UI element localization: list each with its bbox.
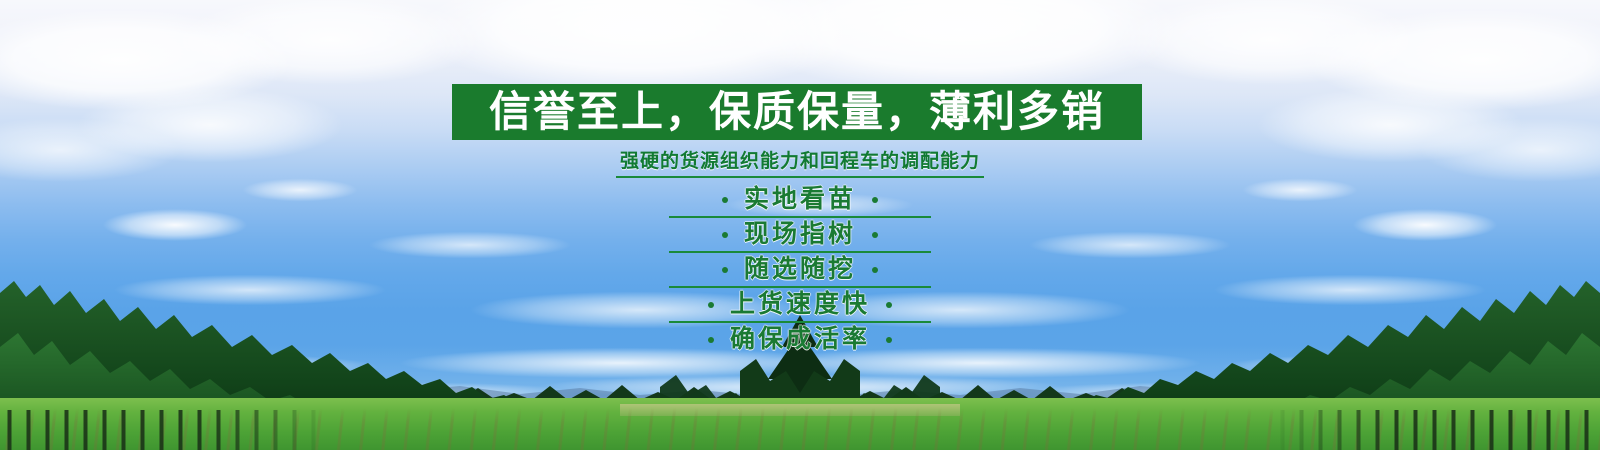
feature-item: 上货速度快 [0,287,1600,322]
bullet-dot-right [872,267,878,273]
feature-list: 实地看苗 现场指树 随选随挖 上货速度快 [0,182,1600,357]
bullet-dot-right [886,337,892,343]
feature-label: 实地看苗 [728,187,872,212]
bullet-dot-right [886,302,892,308]
bullet-dot-right [872,232,878,238]
feature-label: 随选随挖 [728,257,872,282]
subtitle-row: 强硬的货源组织能力和回程车的调配能力 [0,146,1600,178]
subtitle-text: 强硬的货源组织能力和回程车的调配能力 [616,146,984,178]
banner-content: 信誉至上，保质保量，薄利多销 强硬的货源组织能力和回程车的调配能力 实地看苗 现… [0,0,1600,450]
feature-item: 随选随挖 [0,252,1600,287]
headline-text: 信誉至上，保质保量，薄利多销 [489,91,1105,133]
feature-label: 确保成活率 [714,327,886,352]
feature-label: 现场指树 [728,222,872,247]
feature-item: 实地看苗 [0,182,1600,217]
feature-item: 确保成活率 [0,322,1600,357]
promotional-banner: 信誉至上，保质保量，薄利多销 强硬的货源组织能力和回程车的调配能力 实地看苗 现… [0,0,1600,450]
bullet-dot-right [872,197,878,203]
headline-banner: 信誉至上，保质保量，薄利多销 [452,84,1142,140]
feature-item: 现场指树 [0,217,1600,252]
feature-label: 上货速度快 [714,292,886,317]
